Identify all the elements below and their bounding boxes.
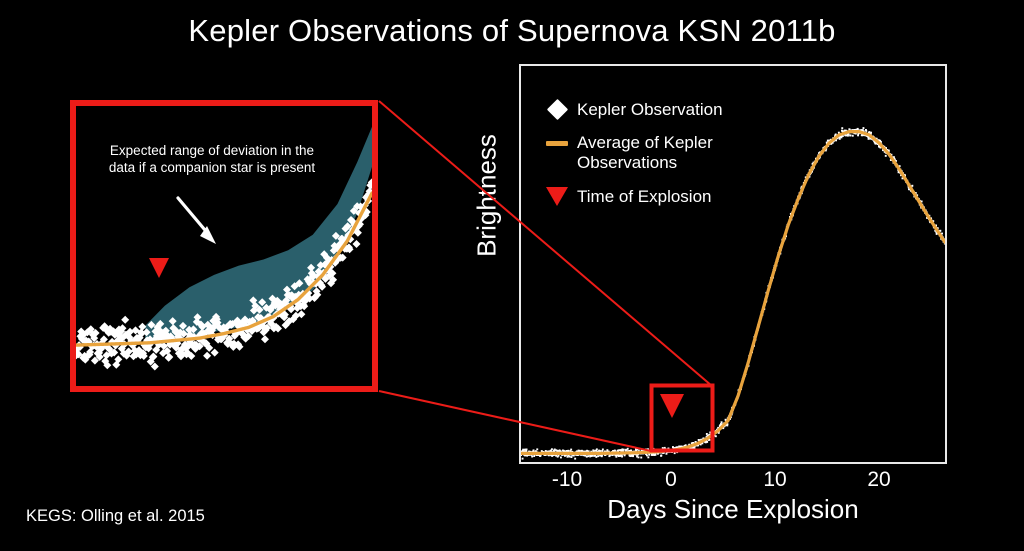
figure-root: Kepler Observations of Supernova KSN 201… — [0, 0, 1024, 551]
legend-item-kepler-observation: Kepler Observation — [537, 100, 787, 120]
legend-label-time-of-explosion: Time of Explosion — [577, 186, 711, 207]
explosion-marker-icon — [660, 394, 684, 418]
orange-dash-icon — [546, 141, 568, 146]
credit-line: KEGS: Olling et al. 2015 — [26, 507, 205, 526]
zoom-inset-panel: Expected range of deviation in the data … — [70, 100, 378, 392]
legend-label-kepler-observation: Kepler Observation — [577, 100, 723, 120]
legend-marker-slot — [537, 100, 577, 117]
inset-explosion-marker-icon — [149, 258, 169, 278]
y-axis-label: Brightness — [472, 101, 503, 291]
inset-light-curve-svg — [76, 106, 372, 386]
page-title: Kepler Observations of Supernova KSN 201… — [0, 14, 1024, 48]
annotation-arrow-icon — [178, 198, 216, 244]
xtick-label-0: 0 — [665, 468, 677, 492]
legend: Kepler Observation Average of Kepler Obs… — [537, 100, 787, 220]
legend-label-average-curve: Average of Kepler Observations — [577, 133, 713, 173]
red-triangle-icon — [546, 187, 568, 206]
xtick-label-10: 10 — [763, 468, 786, 492]
white-diamond-icon — [546, 99, 567, 120]
legend-item-time-of-explosion: Time of Explosion — [537, 186, 787, 207]
legend-marker-slot — [537, 133, 577, 146]
legend-item-average-curve: Average of Kepler Observations — [537, 133, 787, 173]
xtick-label-20: 20 — [867, 468, 890, 492]
xtick-label-neg10: -10 — [552, 468, 582, 492]
legend-marker-slot — [537, 186, 577, 206]
x-axis-label: Days Since Explosion — [519, 494, 947, 525]
